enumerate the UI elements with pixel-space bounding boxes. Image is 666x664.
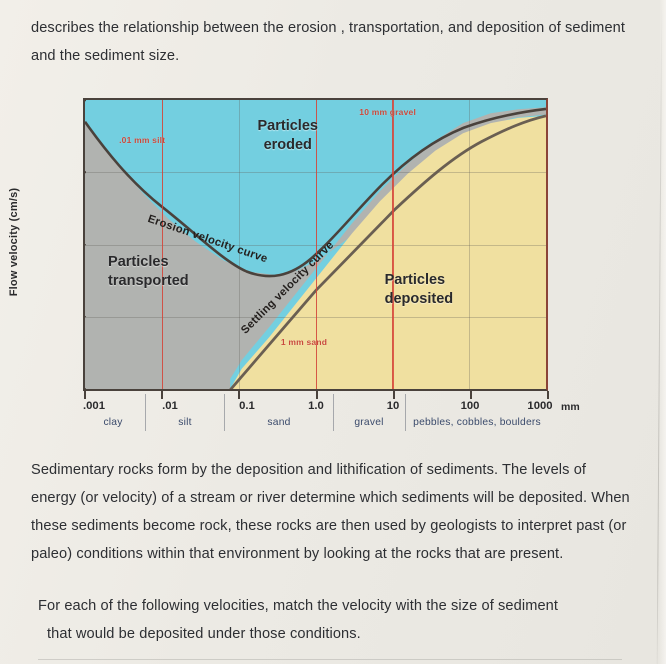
x-tickmark xyxy=(161,391,163,399)
y-tick-label: 10 xyxy=(83,239,85,251)
y-tick-label: 1 xyxy=(83,311,85,323)
x-tickmark xyxy=(470,391,472,399)
annotation-label-gravel: 10 mm gravel xyxy=(359,107,416,117)
zone-label-deposited-text: Particles deposited xyxy=(385,272,453,307)
category-separator xyxy=(333,394,334,431)
x-tick-label: .001 xyxy=(83,400,105,412)
y-tick-label: 0.1 xyxy=(83,383,85,391)
category-separator xyxy=(224,394,225,431)
annotation-label-silt: .01 mm silt xyxy=(119,135,165,145)
x-tickmark xyxy=(547,391,549,399)
x-tickmark xyxy=(238,391,240,399)
category-label-sand: sand xyxy=(267,417,290,428)
x-tick-label: 1000 xyxy=(527,400,552,412)
x-tickmark xyxy=(393,391,395,399)
settling-velocity-curve xyxy=(230,116,546,391)
x-tickmark xyxy=(316,391,318,399)
body-paragraph: Sedimentary rocks form by the deposition… xyxy=(31,456,631,568)
category-label-pebbles: pebbles, cobbles, boulders xyxy=(413,417,541,428)
prompt-line-1: For each of the following velocities, ma… xyxy=(38,598,558,614)
x-tick-label: .01 xyxy=(162,400,178,412)
plot-area: .01 mm silt 1 mm sand 10 mm gravel Parti… xyxy=(83,98,548,391)
intro-paragraph: describes the relationship between the e… xyxy=(31,14,631,70)
annotation-label-sand: 1 mm sand xyxy=(281,337,327,347)
y-tick-label: 100 xyxy=(83,166,85,178)
y-tick-label: 1000 xyxy=(83,98,85,106)
x-tickmark xyxy=(84,391,86,399)
category-separator xyxy=(405,394,406,431)
zone-label-transported: Particles transported xyxy=(108,253,218,291)
annotation-line-gravel xyxy=(392,100,394,389)
zone-label-eroded-text: Particles eroded xyxy=(258,118,318,153)
bottom-divider xyxy=(38,659,622,660)
x-tick-label: 10 xyxy=(387,400,400,412)
x-axis-unit: mm xyxy=(561,401,580,413)
category-label-silt: silt xyxy=(178,417,191,428)
worksheet-page: describes the relationship between the e… xyxy=(0,0,666,664)
x-tick-label: 100 xyxy=(461,400,480,412)
hjulstrom-diagram: Flow velocity (cm/s) xyxy=(0,86,666,446)
category-label-gravel: gravel xyxy=(354,417,383,428)
zone-label-deposited: Particles deposited xyxy=(385,271,485,309)
prompt-line-2: that would be deposited under those cond… xyxy=(38,620,634,648)
prompt-paragraph: For each of the following velocities, ma… xyxy=(38,592,634,648)
y-axis-label: Flow velocity (cm/s) xyxy=(8,188,20,297)
x-tick-label: 1.0 xyxy=(308,400,324,412)
category-label-clay: clay xyxy=(103,417,122,428)
category-separator xyxy=(145,394,146,431)
x-tick-label: 0.1 xyxy=(239,400,255,412)
zone-label-transported-text: Particles transported xyxy=(108,254,189,289)
zone-label-eroded: Particles eroded xyxy=(242,117,334,155)
